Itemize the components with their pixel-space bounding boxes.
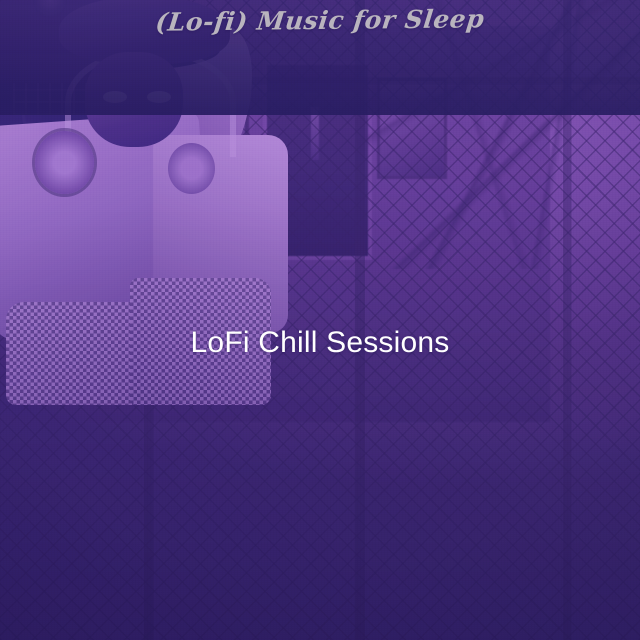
album-cover: adidas CLARKVILLE CHAMPS [0, 0, 640, 640]
main-title: LoFi Chill Sessions [0, 326, 640, 360]
vignette [0, 0, 640, 640]
